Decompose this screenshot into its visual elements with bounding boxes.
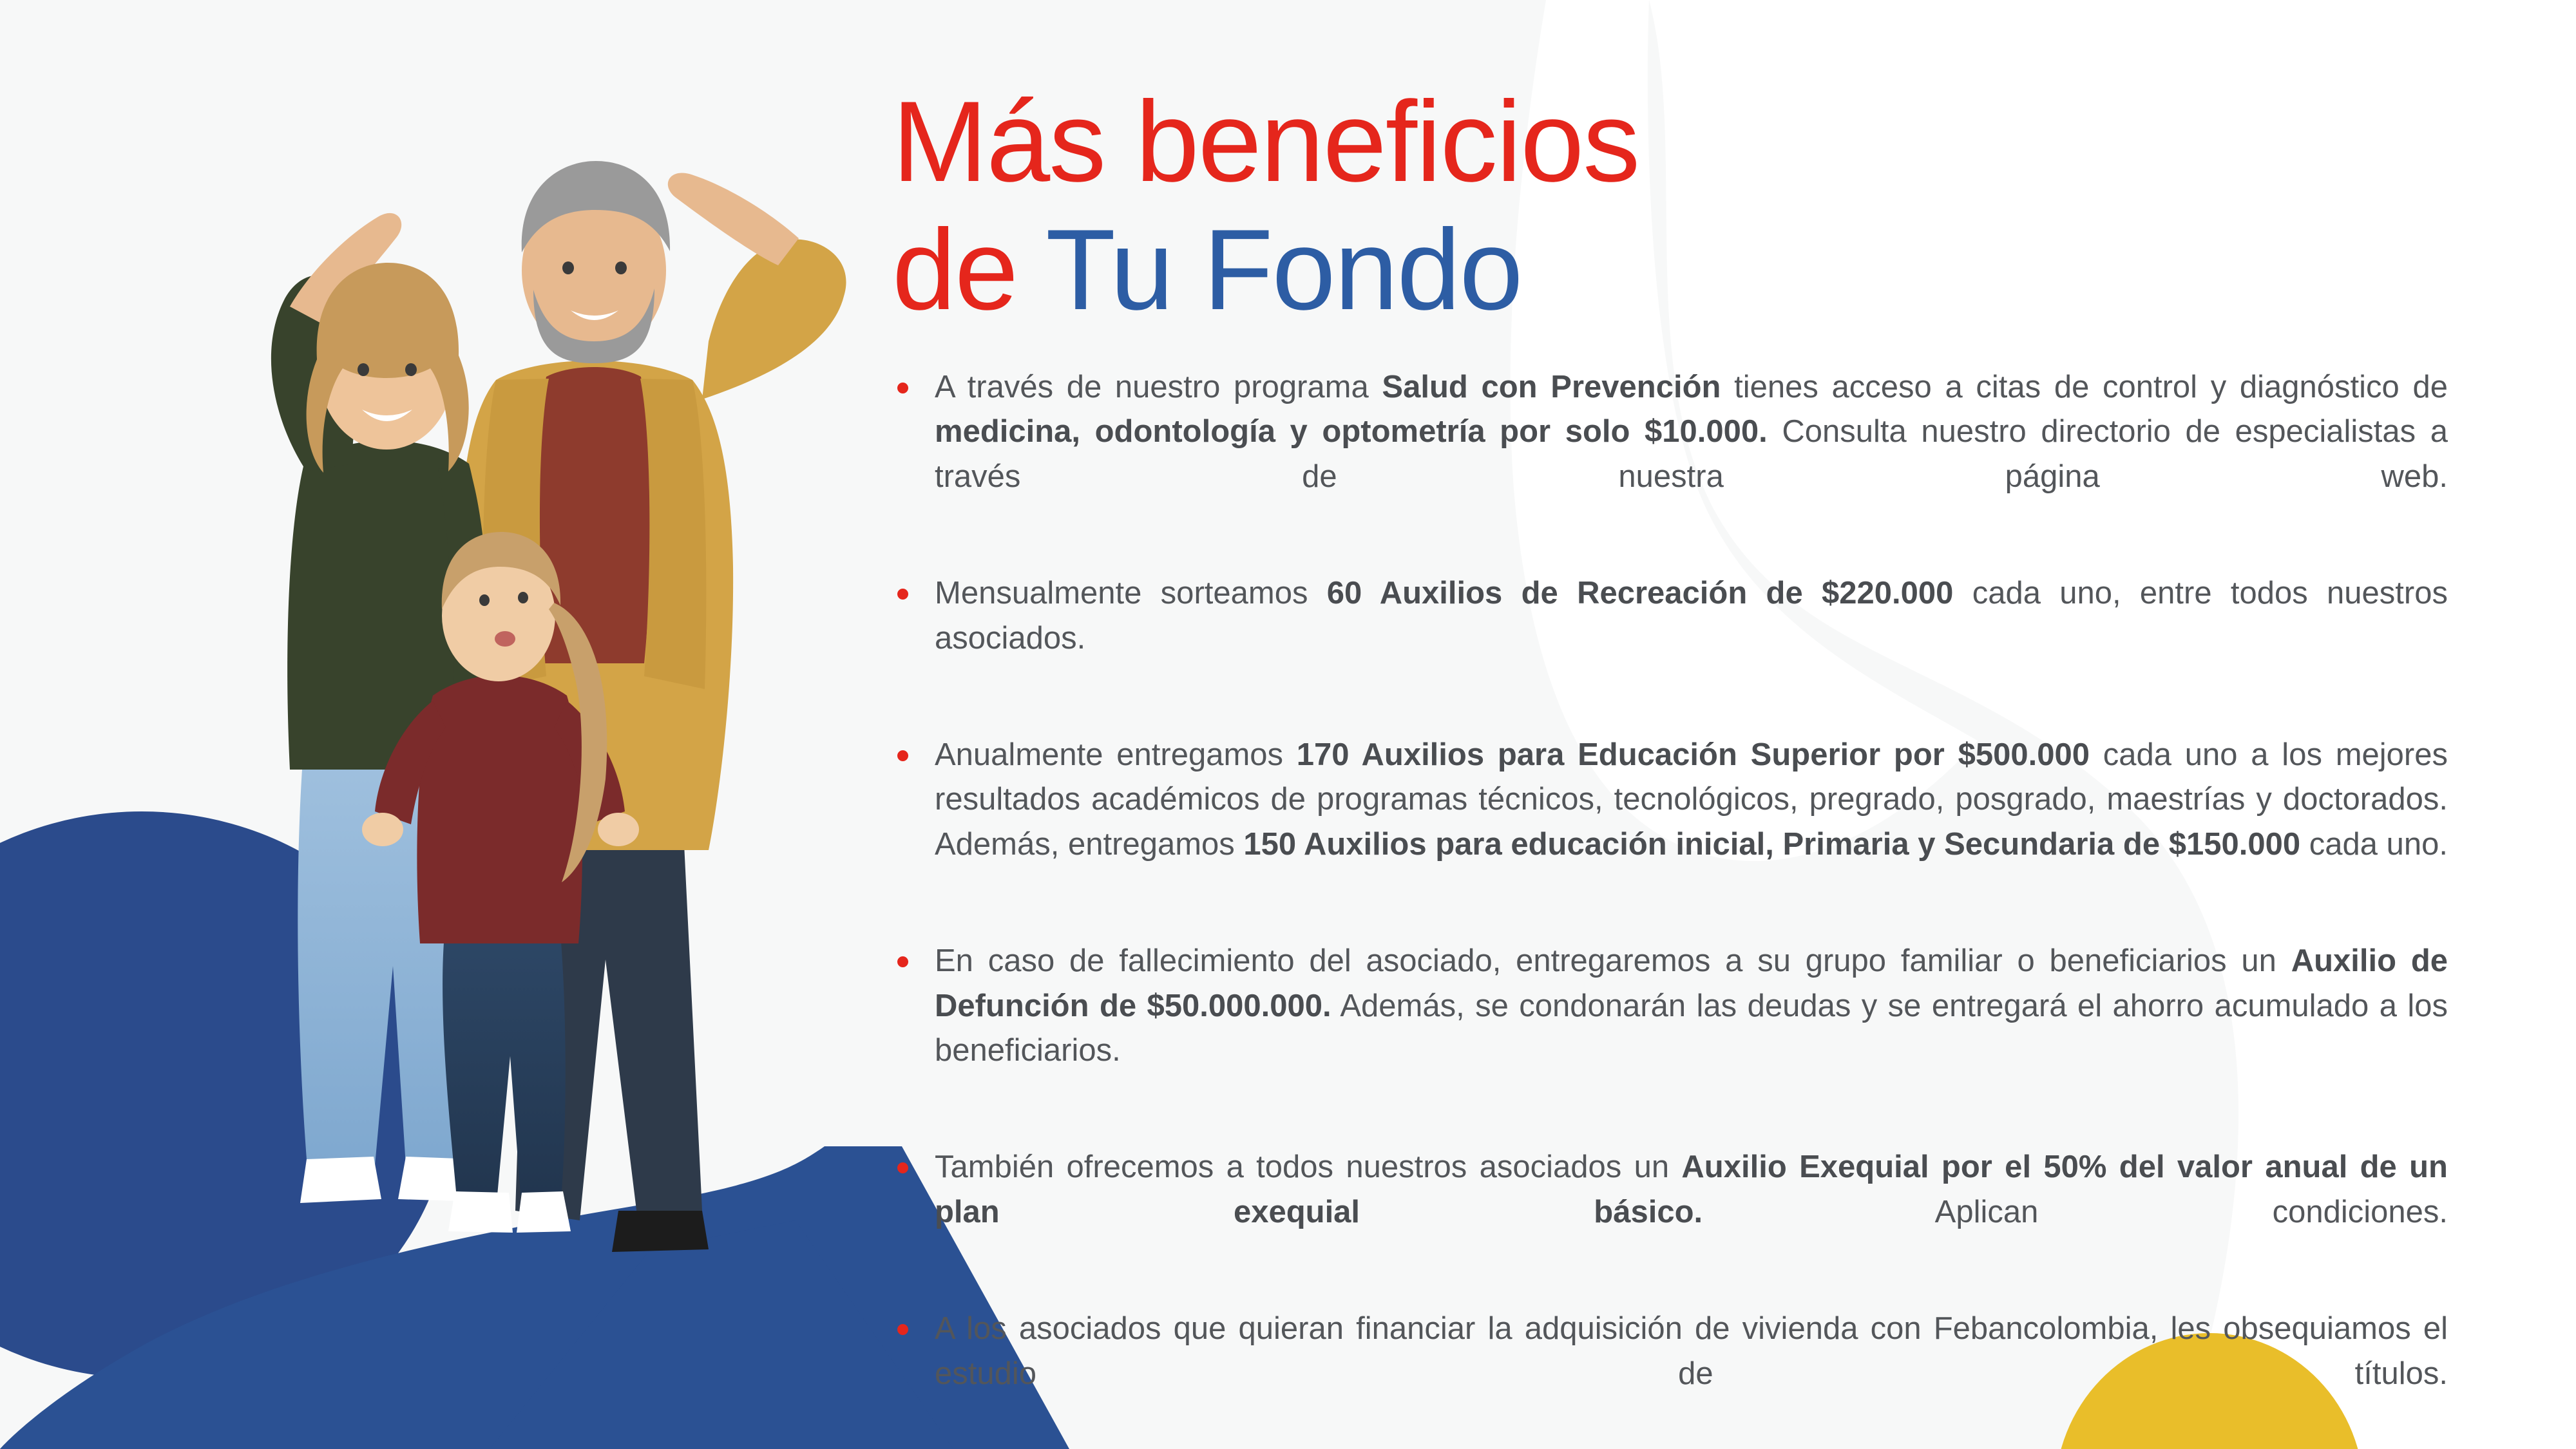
bullet-dot-icon [897,1162,908,1173]
list-item: A los asociados que quieran financiar la… [892,1307,2448,1441]
list-item: Anualmente entregamos 170 Auxilios para … [892,733,2448,912]
bullet-dot-icon [897,956,908,967]
benefit-text: También ofrecemos a todos nuestros asoci… [935,1145,2448,1280]
title-line-2-blue: Tu Fondo [1045,205,1522,334]
bullet-dot-icon [897,750,908,761]
bullet-dot-icon [897,589,908,600]
benefit-text: A través de nuestro programa Salud con P… [935,365,2448,544]
bullet-dot-icon [897,383,908,393]
title-line-2-red: de [892,205,1045,334]
benefit-text: Anualmente entregamos 170 Auxilios para … [935,733,2448,912]
bullet-dot-icon [897,1324,908,1335]
content-column: Más beneficios de Tu Fondo A través de n… [892,77,2457,1365]
slide-canvas: Más beneficios de Tu Fondo A través de n… [0,0,2576,1449]
list-item: A través de nuestro programa Salud con P… [892,365,2448,544]
title-line-1: Más beneficios [892,77,1639,205]
list-item: En caso de fallecimiento del asociado, e… [892,939,2448,1118]
list-item: Mensualmente sorteamos 60 Auxilios de Re… [892,571,2448,706]
benefits-list: A través de nuestro programa Salud con P… [892,365,2448,1441]
page-title: Más beneficios de Tu Fondo [892,77,2457,334]
benefit-text: En caso de fallecimiento del asociado, e… [935,939,2448,1118]
family-photo [193,77,876,1314]
benefit-text: A los asociados que quieran financiar la… [935,1307,2448,1441]
family-photo-illustration [193,77,876,1314]
list-item: También ofrecemos a todos nuestros asoci… [892,1145,2448,1280]
benefit-text: Mensualmente sorteamos 60 Auxilios de Re… [935,571,2448,706]
